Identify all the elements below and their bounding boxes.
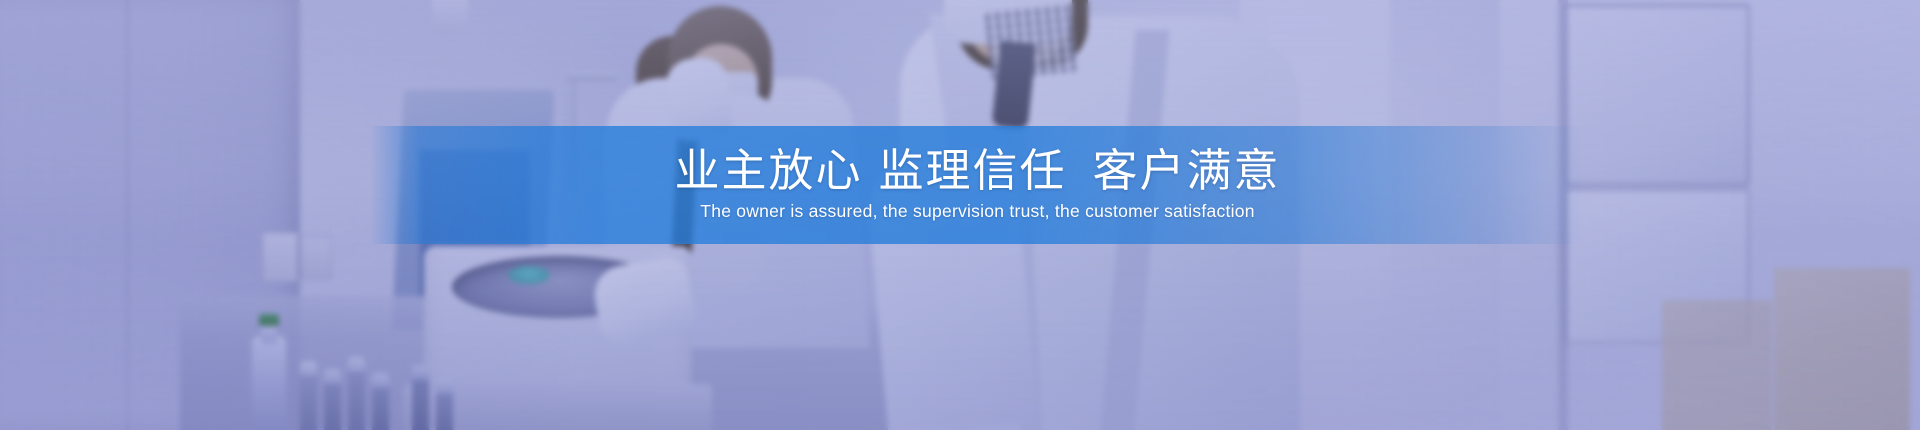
banner-headline: 业主放心监理信任客户满意 <box>674 148 1280 195</box>
headline-part-1: 业主放心 <box>674 144 862 197</box>
headline-part-2: 监理信任 <box>878 144 1066 197</box>
banner-subheadline: The owner is assured, the supervision tr… <box>700 201 1254 222</box>
caption-band: 业主放心监理信任客户满意 The owner is assured, the s… <box>370 126 1585 244</box>
headline-part-3: 客户满意 <box>1093 144 1281 197</box>
hero-banner: 业主放心监理信任客户满意 The owner is assured, the s… <box>0 0 1920 430</box>
